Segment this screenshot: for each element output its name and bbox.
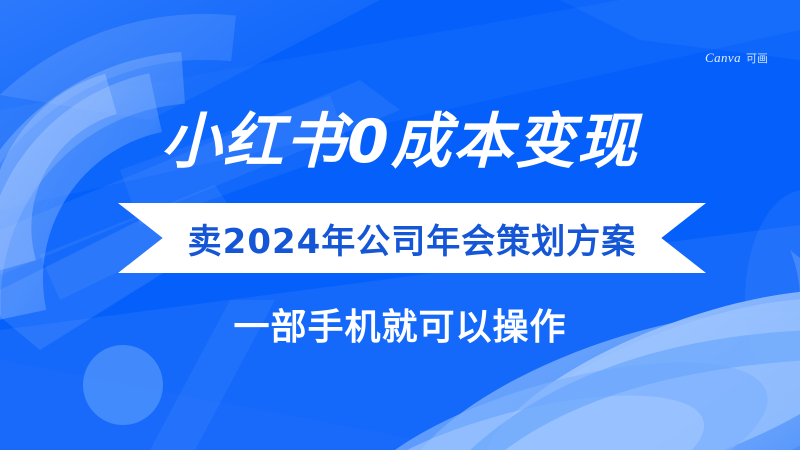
- canva-watermark: Canva 可画: [705, 50, 768, 66]
- bottom-left-circle: [83, 345, 163, 425]
- subtitle-ribbon-banner: 卖2024年公司年会策划方案: [118, 203, 706, 273]
- headline-title: 小红书0成本变现: [0, 104, 800, 180]
- watermark-brand-label: Canva: [705, 50, 741, 66]
- poster-canvas: Canva 可画 小红书0成本变现 卖2024年公司年会策划方案 一部手机就可以…: [0, 0, 800, 450]
- ribbon-label: 卖2024年公司年会策划方案: [188, 214, 637, 263]
- canva-logo-icon: 可画: [746, 50, 768, 66]
- tagline-text: 一部手机就可以操作: [0, 303, 800, 353]
